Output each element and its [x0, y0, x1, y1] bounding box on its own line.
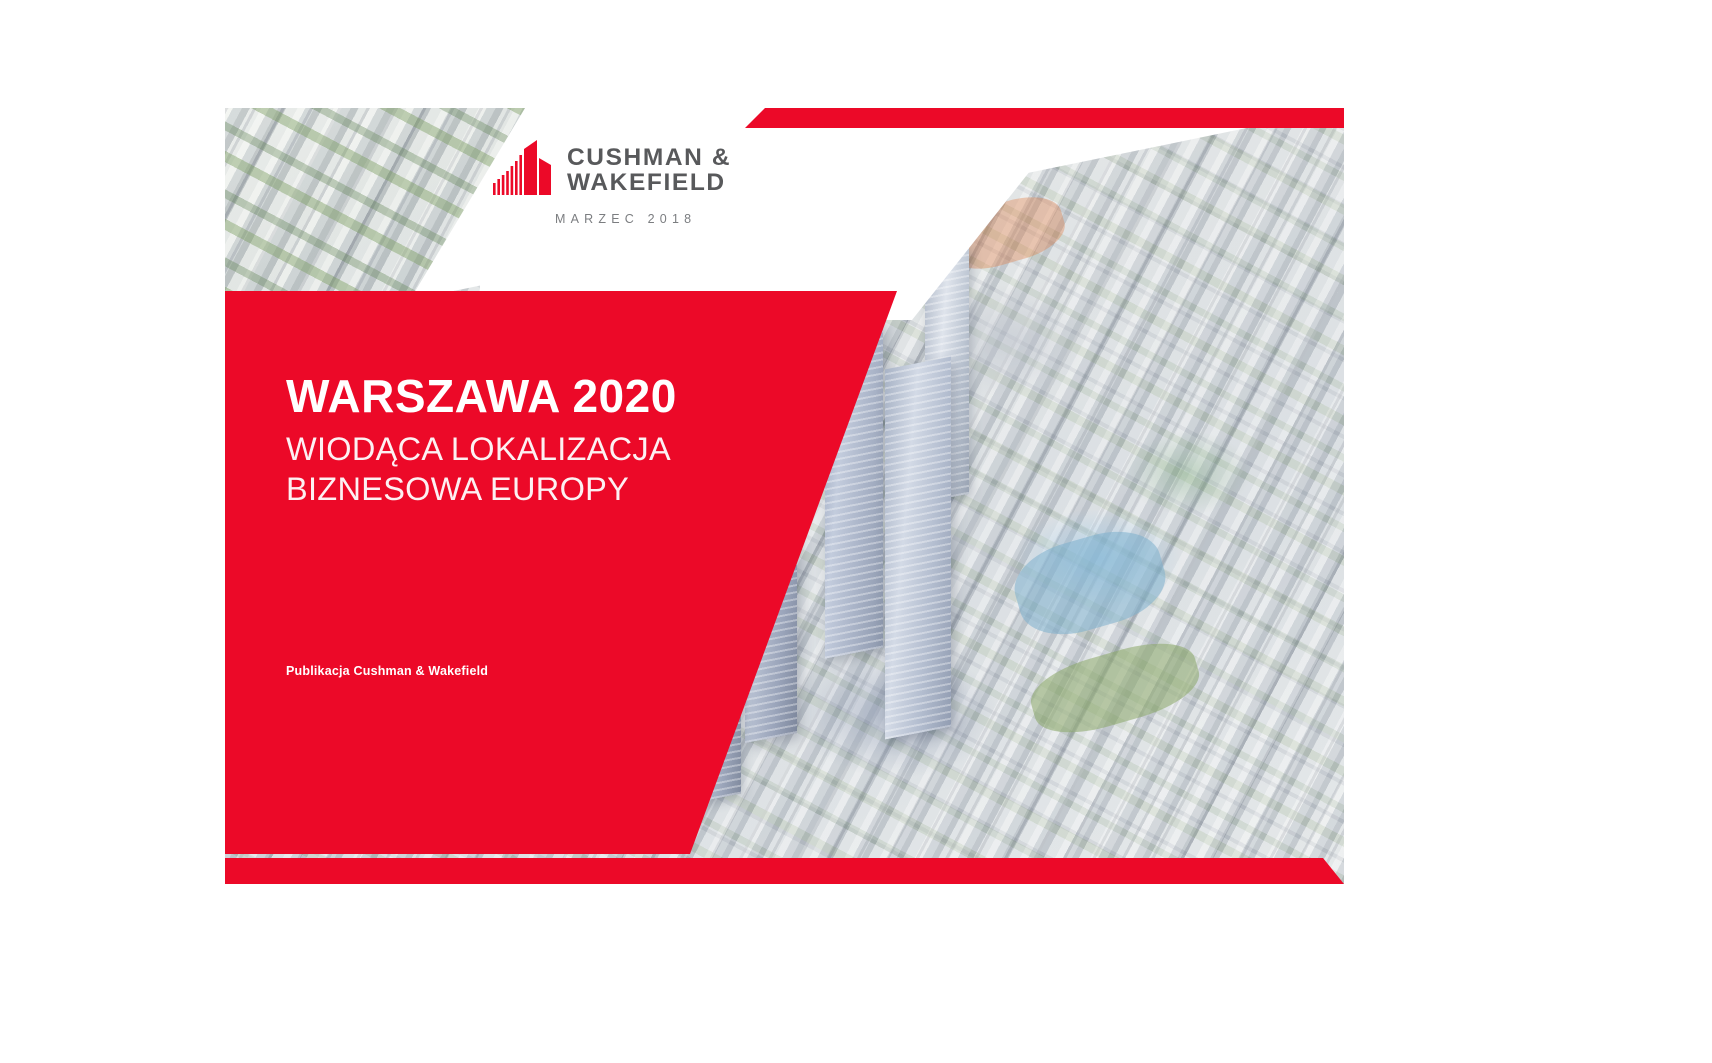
accent-stripe-bottom: [225, 858, 1344, 884]
accent-stripe-top: [745, 108, 1344, 128]
report-cover: CUSHMAN & WAKEFIELD MARZEC 2018 WARSZAWA…: [225, 108, 1344, 884]
publication-date: MARZEC 2018: [555, 212, 753, 226]
page-canvas: CUSHMAN & WAKEFIELD MARZEC 2018 WARSZAWA…: [0, 0, 1712, 1063]
brand-logo-block: CUSHMAN & WAKEFIELD MARZEC 2018: [493, 140, 753, 226]
city-tower: [885, 357, 951, 740]
cover-headline: WARSZAWA 2020 WIODĄCA LOKALIZACJA BIZNES…: [286, 372, 806, 510]
brand-name-line2: WAKEFIELD: [567, 171, 731, 196]
cover-subtitle-line2: BIZNESOWA EUROPY: [286, 470, 806, 510]
cushman-wakefield-building-logo-icon: [493, 140, 555, 195]
city-water-feature: [1006, 519, 1175, 647]
cover-subtitle-line1: WIODĄCA LOKALIZACJA: [286, 430, 806, 470]
brand-name-line1: CUSHMAN &: [567, 146, 731, 171]
city-green-space: [1024, 631, 1207, 745]
publisher-credit: Publikacja Cushman & Wakefield: [286, 664, 488, 678]
cover-title: WARSZAWA 2020: [286, 372, 806, 420]
brand-wordmark: CUSHMAN & WAKEFIELD: [567, 146, 731, 195]
